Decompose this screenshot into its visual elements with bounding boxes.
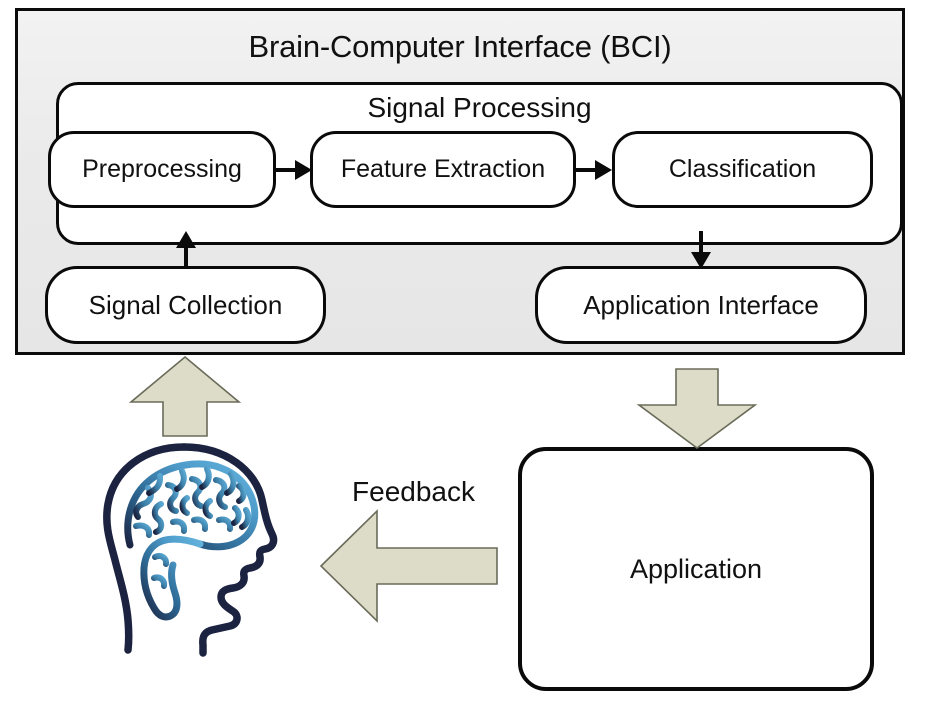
head-brain-icon — [88, 438, 293, 663]
feedback-label: Feedback — [336, 476, 491, 508]
box-application[interactable]: Application — [518, 447, 874, 691]
box-classification-label: Classification — [669, 157, 816, 182]
diagram-canvas: Brain-Computer Interface (BCI) Signal Pr… — [0, 0, 927, 703]
box-signal-collection[interactable]: Signal Collection — [45, 266, 326, 344]
box-classification[interactable]: Classification — [612, 131, 873, 208]
box-feature-extraction[interactable]: Feature Extraction — [310, 131, 576, 208]
box-application-interface-label: Application Interface — [583, 292, 819, 318]
block-arrow-left-application-to-brain-feedback — [318, 508, 500, 624]
box-feature-extraction-label: Feature Extraction — [341, 157, 545, 182]
arrow-right-feature-extraction-to-classification — [574, 152, 614, 188]
box-signal-collection-label: Signal Collection — [89, 292, 283, 318]
arrow-down-classification-to-application-interface — [685, 230, 717, 270]
bci-title: Brain-Computer Interface (BCI) — [18, 29, 902, 65]
block-arrow-down-application-interface-to-application — [634, 367, 760, 451]
box-application-label: Application — [630, 556, 762, 583]
box-application-interface[interactable]: Application Interface — [535, 266, 867, 344]
arrow-right-preprocessing-to-feature-extraction — [274, 152, 314, 188]
arrow-up-signal-collection-to-signal-processing — [170, 230, 202, 270]
signal-processing-title: Signal Processing — [59, 92, 900, 124]
brain-gyri-icon — [136, 469, 248, 586]
box-preprocessing[interactable]: Preprocessing — [48, 131, 276, 208]
block-arrow-up-brain-to-signal-collection — [127, 355, 243, 439]
box-preprocessing-label: Preprocessing — [82, 157, 242, 182]
